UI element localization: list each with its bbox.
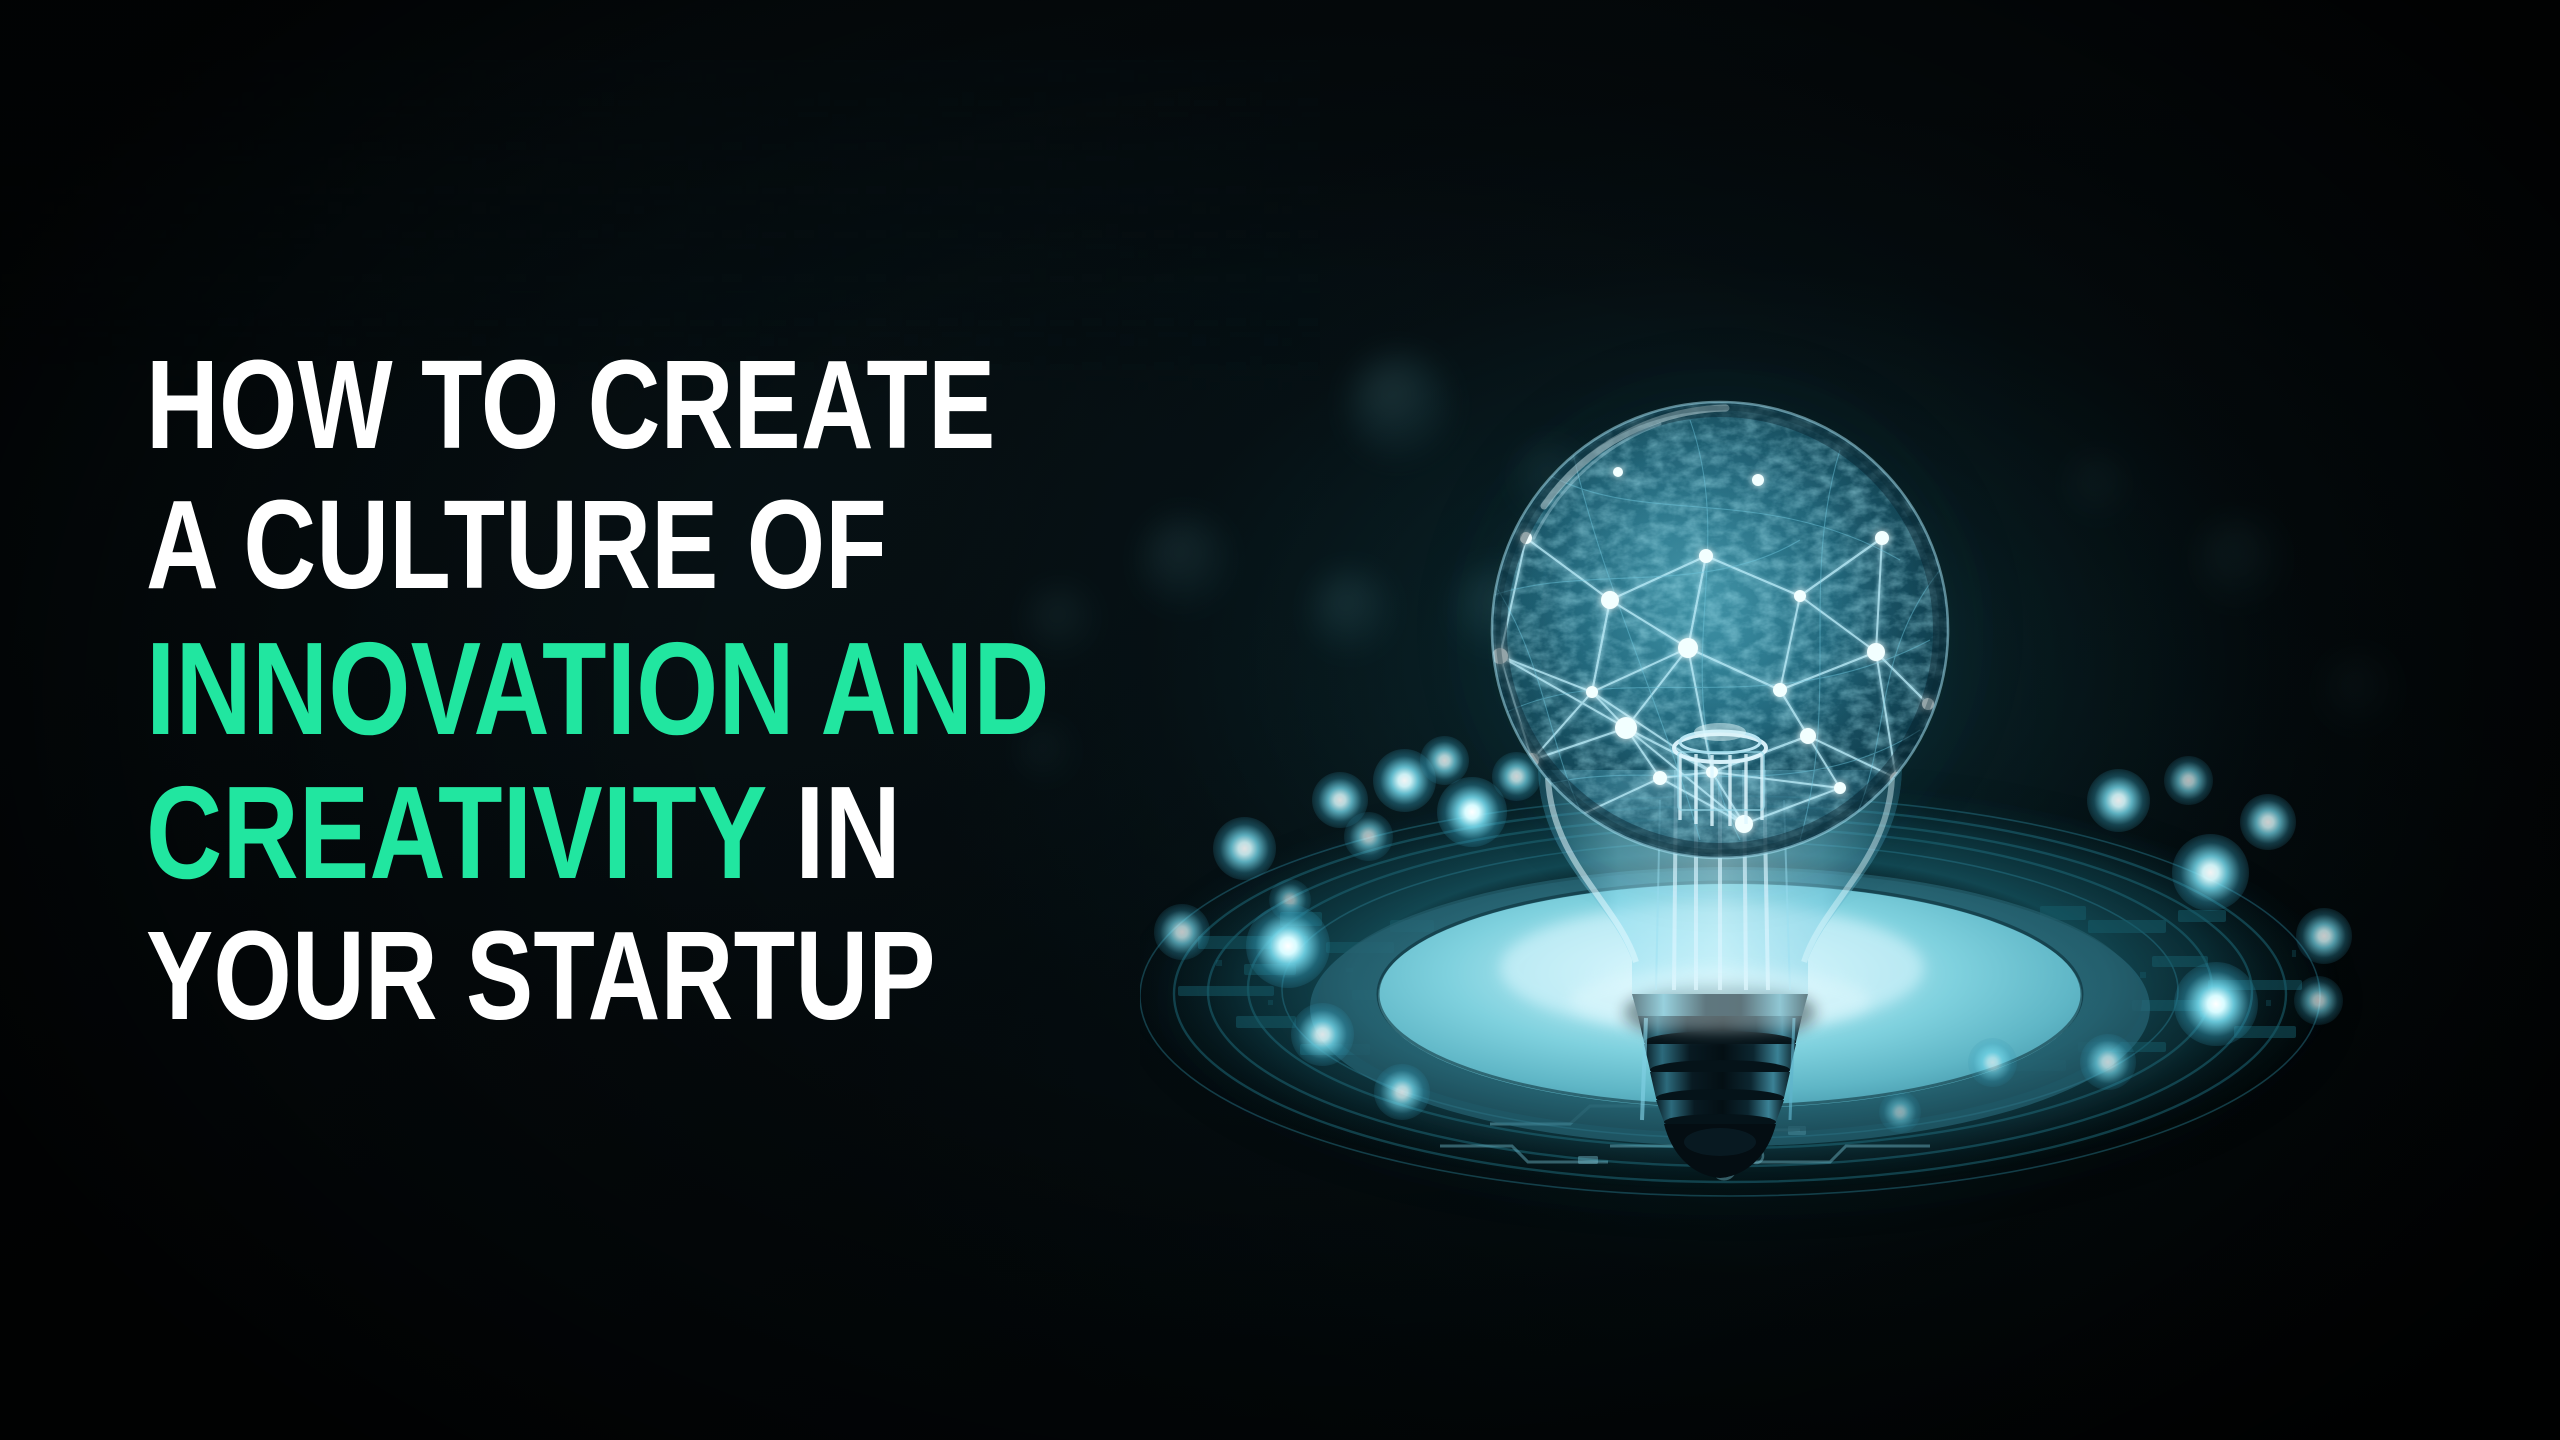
headline-line-3: INNOVATION AND	[146, 627, 994, 751]
headline-line-2: A CULTURE OF	[146, 486, 994, 604]
bulb-globe	[1430, 340, 2010, 920]
headline-line-1: HOW TO CREATE	[146, 346, 994, 464]
headline-line-4-white	[766, 759, 796, 906]
headline-block: HOW TO CREATE A CULTURE OF INNOVATION AN…	[146, 346, 1206, 1035]
headline-line-4-accent: CREATIVITY	[146, 759, 766, 906]
lightbulb-illustration	[1140, 300, 2400, 1300]
headline-line-4: CREATIVITY IN	[146, 771, 994, 895]
headline-line-4-suffix: IN	[795, 759, 901, 906]
banner-canvas: HOW TO CREATE A CULTURE OF INNOVATION AN…	[0, 0, 2560, 1440]
headline-line-5: YOUR STARTUP	[146, 917, 994, 1035]
